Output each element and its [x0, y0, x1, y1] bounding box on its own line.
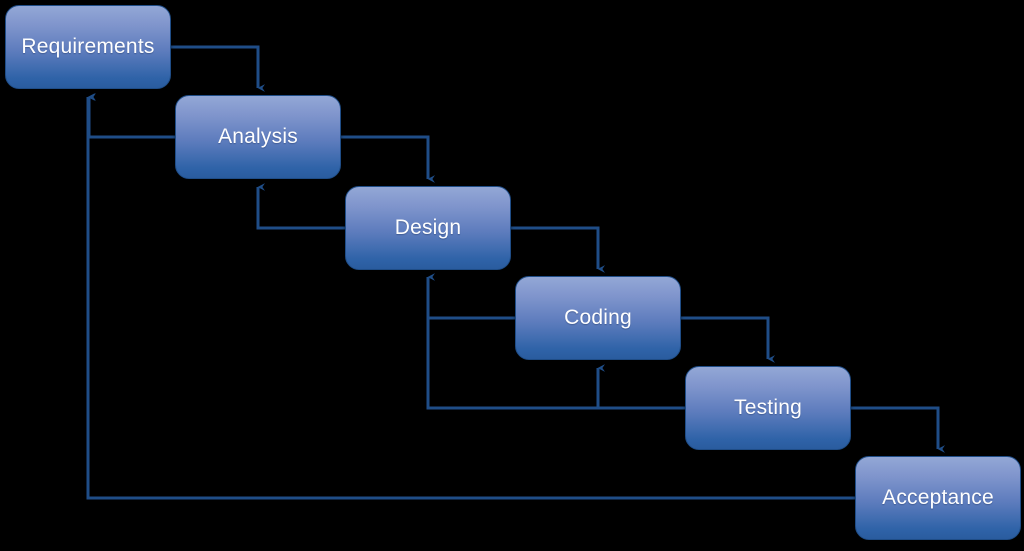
- connector-testing-to-acceptance: [851, 408, 938, 449]
- stage-box-design[interactable]: Design: [345, 186, 511, 270]
- waterfall-diagram: Requirements Analysis Design Coding Test…: [0, 0, 1024, 551]
- stage-label-design: Design: [395, 216, 462, 240]
- stage-box-requirements[interactable]: Requirements: [5, 5, 171, 89]
- stage-label-requirements: Requirements: [21, 35, 154, 59]
- stage-label-testing: Testing: [734, 396, 802, 420]
- connector-design-to-coding: [511, 228, 598, 269]
- stage-box-analysis[interactable]: Analysis: [175, 95, 341, 179]
- stage-box-testing[interactable]: Testing: [685, 366, 851, 450]
- stage-box-coding[interactable]: Coding: [515, 276, 681, 360]
- connector-analysis-to-design: [341, 137, 428, 179]
- feedback-design-to-analysis: [258, 187, 345, 228]
- connector-requirements-to-analysis: [171, 47, 258, 88]
- stage-label-analysis: Analysis: [218, 125, 298, 149]
- feedback-analysis-to-requirements: [89, 97, 175, 137]
- connector-coding-to-testing: [681, 318, 768, 359]
- stage-box-acceptance[interactable]: Acceptance: [855, 456, 1021, 540]
- stage-label-acceptance: Acceptance: [882, 486, 994, 510]
- stage-label-coding: Coding: [564, 306, 632, 330]
